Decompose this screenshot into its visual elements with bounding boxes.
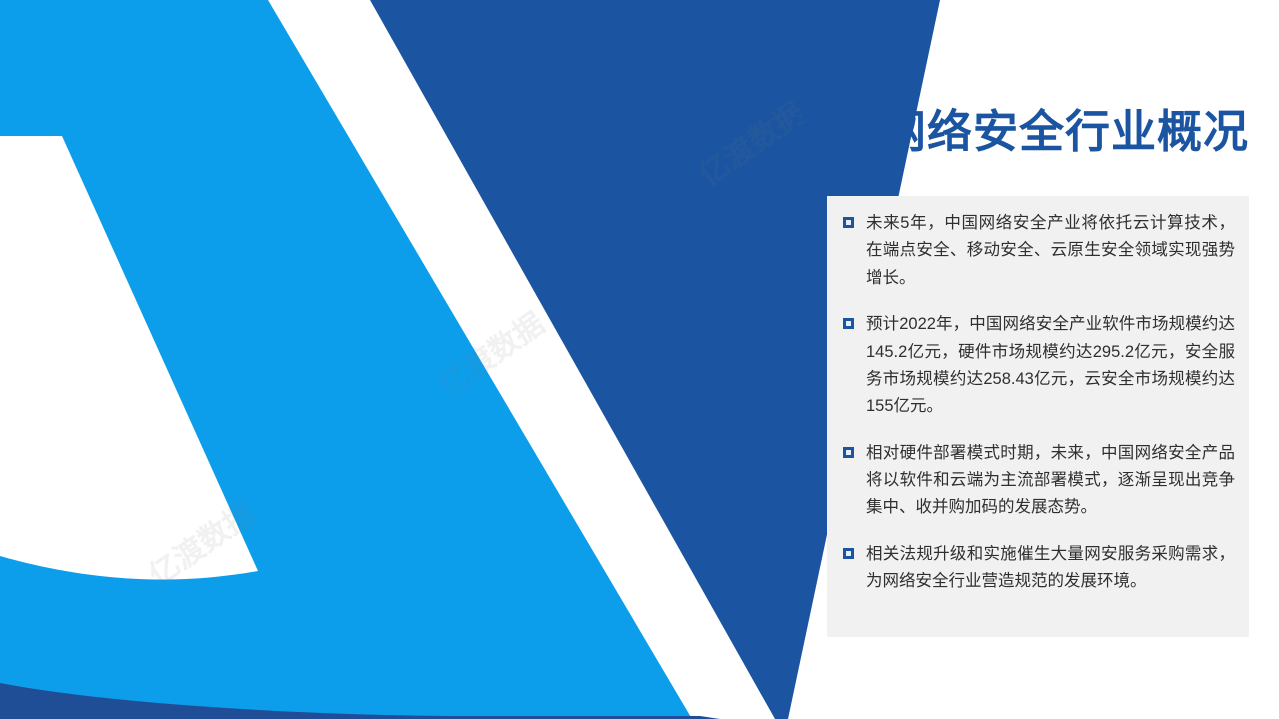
square-2 (539, 13, 589, 76)
white-notch-shape (0, 136, 258, 580)
hollow-square-bullet-icon (843, 447, 854, 458)
square-4 (597, 63, 670, 149)
list-item: 预计2022年，中国网络安全产业软件市场规模约达145.2亿元，硬件市场规模约达… (841, 311, 1235, 421)
hollow-square-bullet-icon (843, 318, 854, 329)
light-blue-diagonal-band (0, 0, 692, 719)
list-item: 相关法规升级和实施催生大量网安服务采购需求，为网络安全行业营造规范的发展环境。 (841, 541, 1235, 596)
square-6 (677, 38, 727, 94)
hollow-square-bullet-icon (843, 548, 854, 559)
list-item-text: 未来5年，中国网络安全产业将依托云计算技术，在端点安全、移动安全、云原生安全领域… (866, 210, 1235, 292)
hollow-square-bullet-icon (843, 217, 854, 228)
list-item: 未来5年，中国网络安全产业将依托云计算技术，在端点安全、移动安全、云原生安全领域… (841, 210, 1235, 292)
summary-panel: 未来5年，中国网络安全产业将依托云计算技术，在端点安全、移动安全、云原生安全领域… (827, 196, 1249, 637)
list-item-text: 相对硬件部署模式时期，未来，中国网络安全产品将以软件和云端为主流部署模式，逐渐呈… (866, 440, 1235, 522)
list-item-text: 相关法规升级和实施催生大量网安服务采购需求，为网络安全行业营造规范的发展环境。 (866, 541, 1235, 596)
square-5 (588, 173, 638, 230)
square-1 (528, 0, 557, 31)
square-3 (500, 104, 579, 193)
watermark-1: 亿渡数据 (138, 490, 262, 595)
dark-blue-bottom-sweep (0, 683, 720, 719)
slide-canvas: 亿渡数据 亿渡数据 亿渡数据 亿渡数据 中国网络安全行业概况 未来5年，中国网络… (0, 0, 1279, 719)
list-item-text: 预计2022年，中国网络安全产业软件市场规模约达145.2亿元，硬件市场规模约达… (866, 311, 1235, 421)
watermark-2: 亿渡数据 (428, 300, 552, 405)
white-gap-band (263, 0, 775, 719)
list-item: 相对硬件部署模式时期，未来，中国网络安全产品将以软件和云端为主流部署模式，逐渐呈… (841, 440, 1235, 522)
page-title: 中国网络安全行业概况 (789, 108, 1249, 155)
